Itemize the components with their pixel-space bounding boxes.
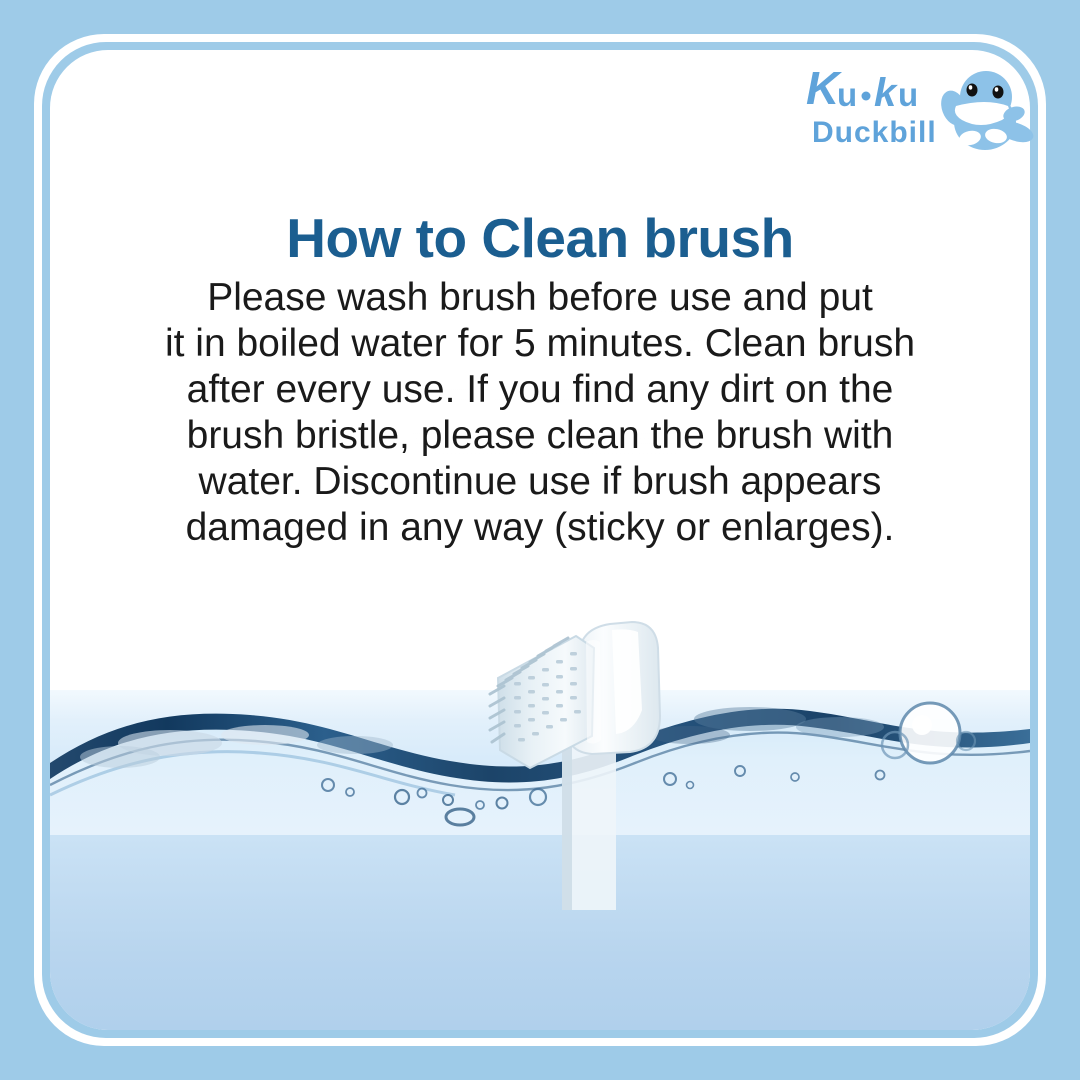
promo-card: How to Clean brush Please wash brush bef… — [0, 0, 1080, 1080]
body-copy: Please wash brush before use and put it … — [145, 275, 935, 551]
svg-text:u: u — [898, 76, 918, 113]
duckbill-mascot-icon — [937, 71, 1036, 150]
svg-text:Duckbill: Duckbill — [812, 116, 937, 149]
svg-text:k: k — [874, 71, 898, 115]
copy-block: How to Clean brush Please wash brush bef… — [50, 208, 1030, 551]
body-line: Please wash brush before use and put — [145, 275, 935, 321]
content-panel: How to Clean brush Please wash brush bef… — [50, 50, 1030, 1030]
logo-wordmark: K u k u Duckbill — [806, 62, 937, 149]
brand-logo[interactable]: K u k u Duckbill — [804, 52, 1044, 172]
product-image — [380, 590, 720, 1010]
body-line: damaged in any way (sticky or enlarges). — [145, 505, 935, 551]
body-line: it in boiled water for 5 minutes. Clean … — [145, 321, 935, 367]
body-line: after every use. If you find any dirt on… — [145, 367, 935, 413]
svg-text:u: u — [837, 76, 857, 113]
body-line: brush bristle, please clean the brush wi… — [145, 413, 935, 459]
page-title: How to Clean brush — [90, 208, 990, 269]
body-line: water. Discontinue use if brush appears — [145, 459, 935, 505]
